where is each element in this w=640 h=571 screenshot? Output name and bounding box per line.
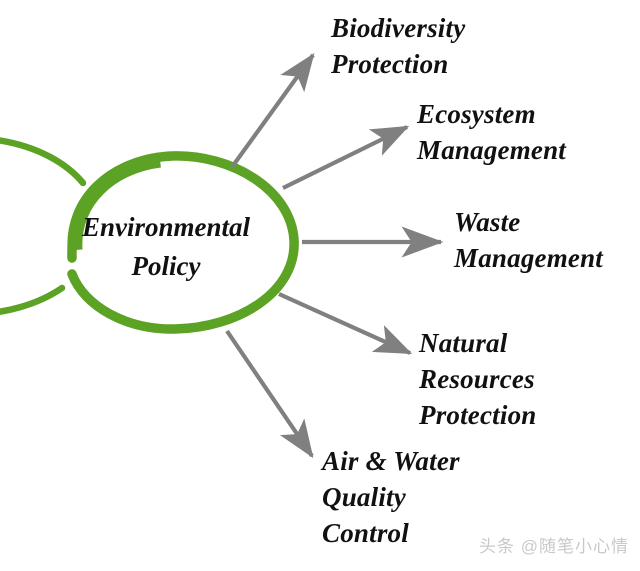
diagram-canvas: Environmental Policy Biodiversity Protec… — [0, 0, 640, 571]
watermark-text: 头条 @随笔小心情 — [479, 532, 629, 557]
branch-label-natural-resources-protection: Natural Resources Protection — [419, 325, 537, 433]
arrow-to-natural-resources-protection — [279, 294, 410, 353]
arrow-to-ecosystem-management — [283, 127, 407, 188]
center-node-label: Environmental Policy — [36, 208, 296, 286]
branch-label-ecosystem-management: Ecosystem Management — [417, 96, 566, 168]
branch-label-air-water-quality-control: Air & Water Quality Control — [322, 443, 460, 551]
branch-label-waste-management: Waste Management — [454, 204, 603, 276]
arrow-to-air-water-quality-control — [227, 331, 312, 456]
arrow-to-biodiversity-protection — [232, 55, 313, 167]
branch-label-biodiversity-protection: Biodiversity Protection — [331, 10, 465, 82]
